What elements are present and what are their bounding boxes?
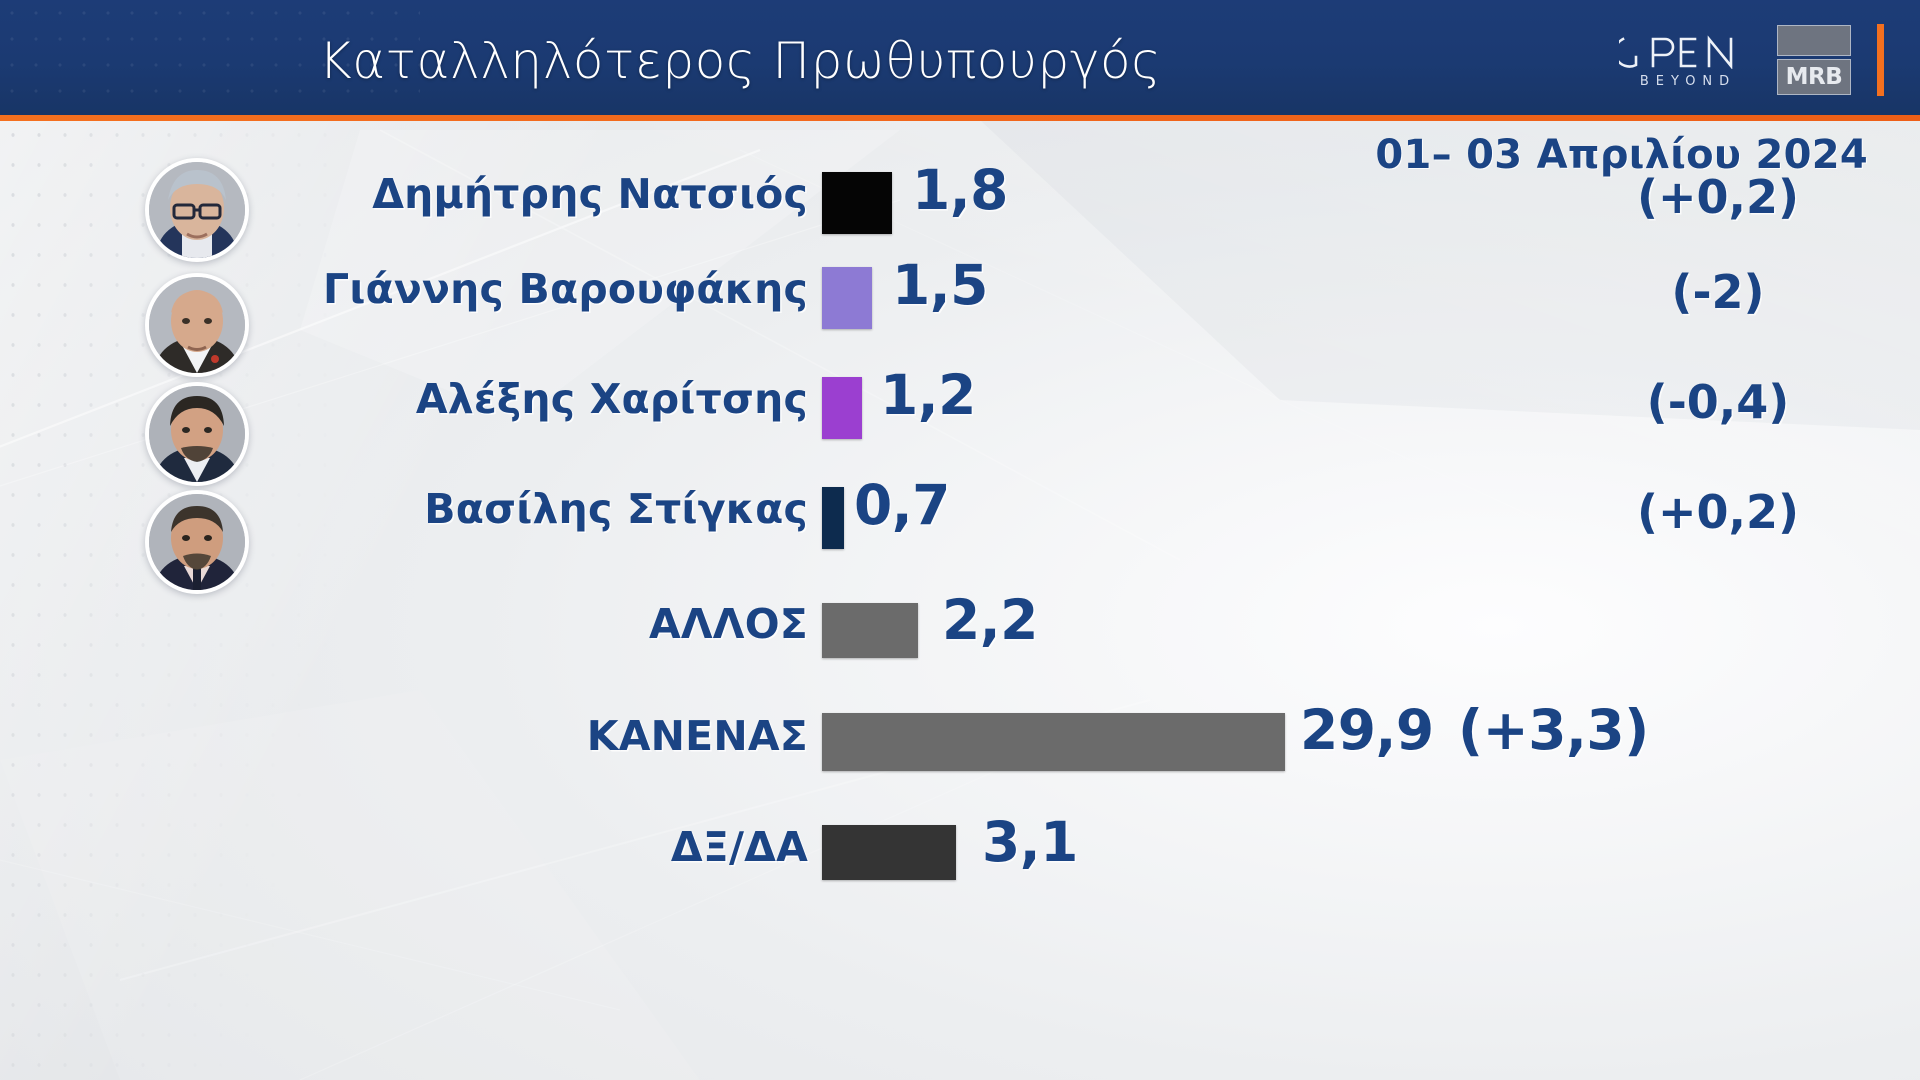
avatar-vasilis-stigkas bbox=[145, 490, 249, 594]
row-value: 1,8 bbox=[912, 158, 1008, 222]
open-beyond-logo: BEYOND bbox=[1619, 31, 1751, 89]
row-label: Γιάννης Βαρουφάκης bbox=[323, 265, 808, 313]
mrb-logo: MRB bbox=[1777, 25, 1851, 95]
header-bar: Καταλληλότερος Πρωθυπουργός BEYOND bbox=[0, 0, 1920, 115]
poll-graphic: Καταλληλότερος Πρωθυπουργός BEYOND bbox=[0, 0, 1920, 1080]
row-value: 0,7 bbox=[854, 473, 950, 537]
portrait-icon bbox=[149, 386, 245, 482]
row-bar bbox=[822, 603, 918, 658]
open-wordmark bbox=[1619, 35, 1751, 69]
row-bar bbox=[822, 825, 956, 880]
mrb-logo-text: MRB bbox=[1786, 64, 1843, 90]
row-value: 1,2 bbox=[880, 363, 976, 427]
row-change: (+0,2) bbox=[1568, 170, 1868, 224]
row-change: (+0,2) bbox=[1568, 485, 1868, 539]
row-bar bbox=[822, 172, 892, 234]
page-title: Καταλληλότερος Πρωθυπουργός bbox=[0, 32, 1480, 90]
row-label: Δημήτρης Νατσιός bbox=[372, 170, 808, 218]
portrait-icon bbox=[149, 494, 245, 590]
mrb-logo-bottom-block: MRB bbox=[1777, 59, 1851, 95]
row-change: (+3,3) bbox=[1458, 698, 1649, 762]
header-orange-rule bbox=[0, 115, 1920, 121]
row-value: 2,2 bbox=[942, 588, 1038, 652]
mrb-logo-top-block bbox=[1777, 25, 1851, 56]
row-label: ΚΑΝΕΝΑΣ bbox=[587, 712, 808, 760]
row-label: ΑΛΛΟΣ bbox=[649, 600, 808, 648]
open-logo-icon bbox=[1619, 35, 1751, 69]
logo-group: BEYOND MRB bbox=[1619, 24, 1884, 96]
row-value: 3,1 bbox=[982, 810, 1078, 874]
row-bar bbox=[822, 377, 862, 439]
row-label: Αλέξης Χαρίτσης bbox=[416, 375, 808, 423]
row-label: ΔΞ/ΔΑ bbox=[671, 823, 808, 871]
row-value: 1,5 bbox=[892, 253, 988, 317]
portrait-icon bbox=[149, 162, 245, 258]
avatar-dimitris-natsios bbox=[145, 158, 249, 262]
background-dot-texture bbox=[0, 120, 330, 1080]
row-label: Βασίλης Στίγκας bbox=[424, 485, 808, 533]
orange-accent-tick bbox=[1877, 24, 1884, 96]
open-beyond-subtext: BEYOND bbox=[1634, 74, 1736, 89]
row-change: (-0,4) bbox=[1568, 375, 1868, 429]
row-change: (-2) bbox=[1568, 265, 1868, 319]
row-bar bbox=[822, 713, 1285, 771]
row-bar bbox=[822, 267, 872, 329]
portrait-icon bbox=[149, 277, 245, 373]
avatar-giannis-varoufakis bbox=[145, 273, 249, 377]
row-bar bbox=[822, 487, 844, 549]
row-value: 29,9 bbox=[1300, 698, 1434, 762]
avatar-alexis-charitsis bbox=[145, 382, 249, 486]
